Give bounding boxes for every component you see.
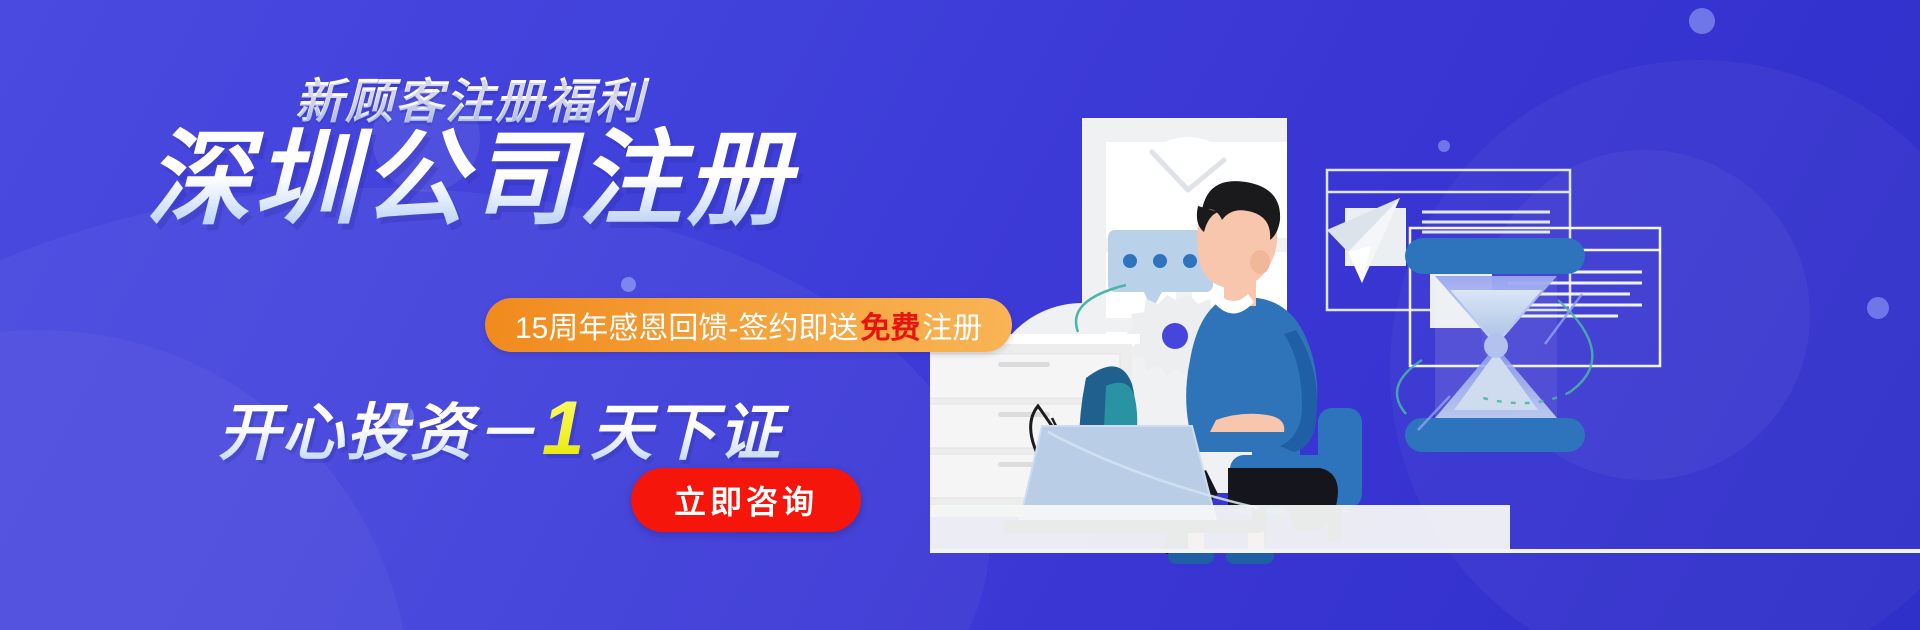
- promo-pill-suffix: 注册: [922, 303, 982, 347]
- tagline-after: 天下证: [590, 399, 782, 468]
- consult-now-button[interactable]: 立即咨询: [631, 468, 861, 532]
- promo-copy: 新顾客注册福利 深圳公司注册 15周年感恩回馈-签约即送 免费 注册 开心投资－…: [0, 0, 1000, 630]
- promo-pill-prefix: 15周年感恩回馈-签约即送: [515, 303, 858, 347]
- page-title: 深圳公司注册: [0, 126, 940, 235]
- hourglass: [1397, 238, 1592, 452]
- tagline-before: 开心投资－: [218, 399, 538, 468]
- floor-line: [930, 505, 1920, 553]
- promo-pill: 15周年感恩回馈-签约即送 免费 注册: [485, 298, 1012, 352]
- promo-pill-highlight: 免费: [858, 303, 922, 347]
- tagline: 开心投资－1天下证: [0, 382, 1000, 472]
- office-illustration: [930, 0, 1920, 630]
- tagline-number: 1: [538, 386, 590, 471]
- promo-banner: 新顾客注册福利 深圳公司注册 15周年感恩回馈-签约即送 免费 注册 开心投资－…: [0, 0, 1920, 630]
